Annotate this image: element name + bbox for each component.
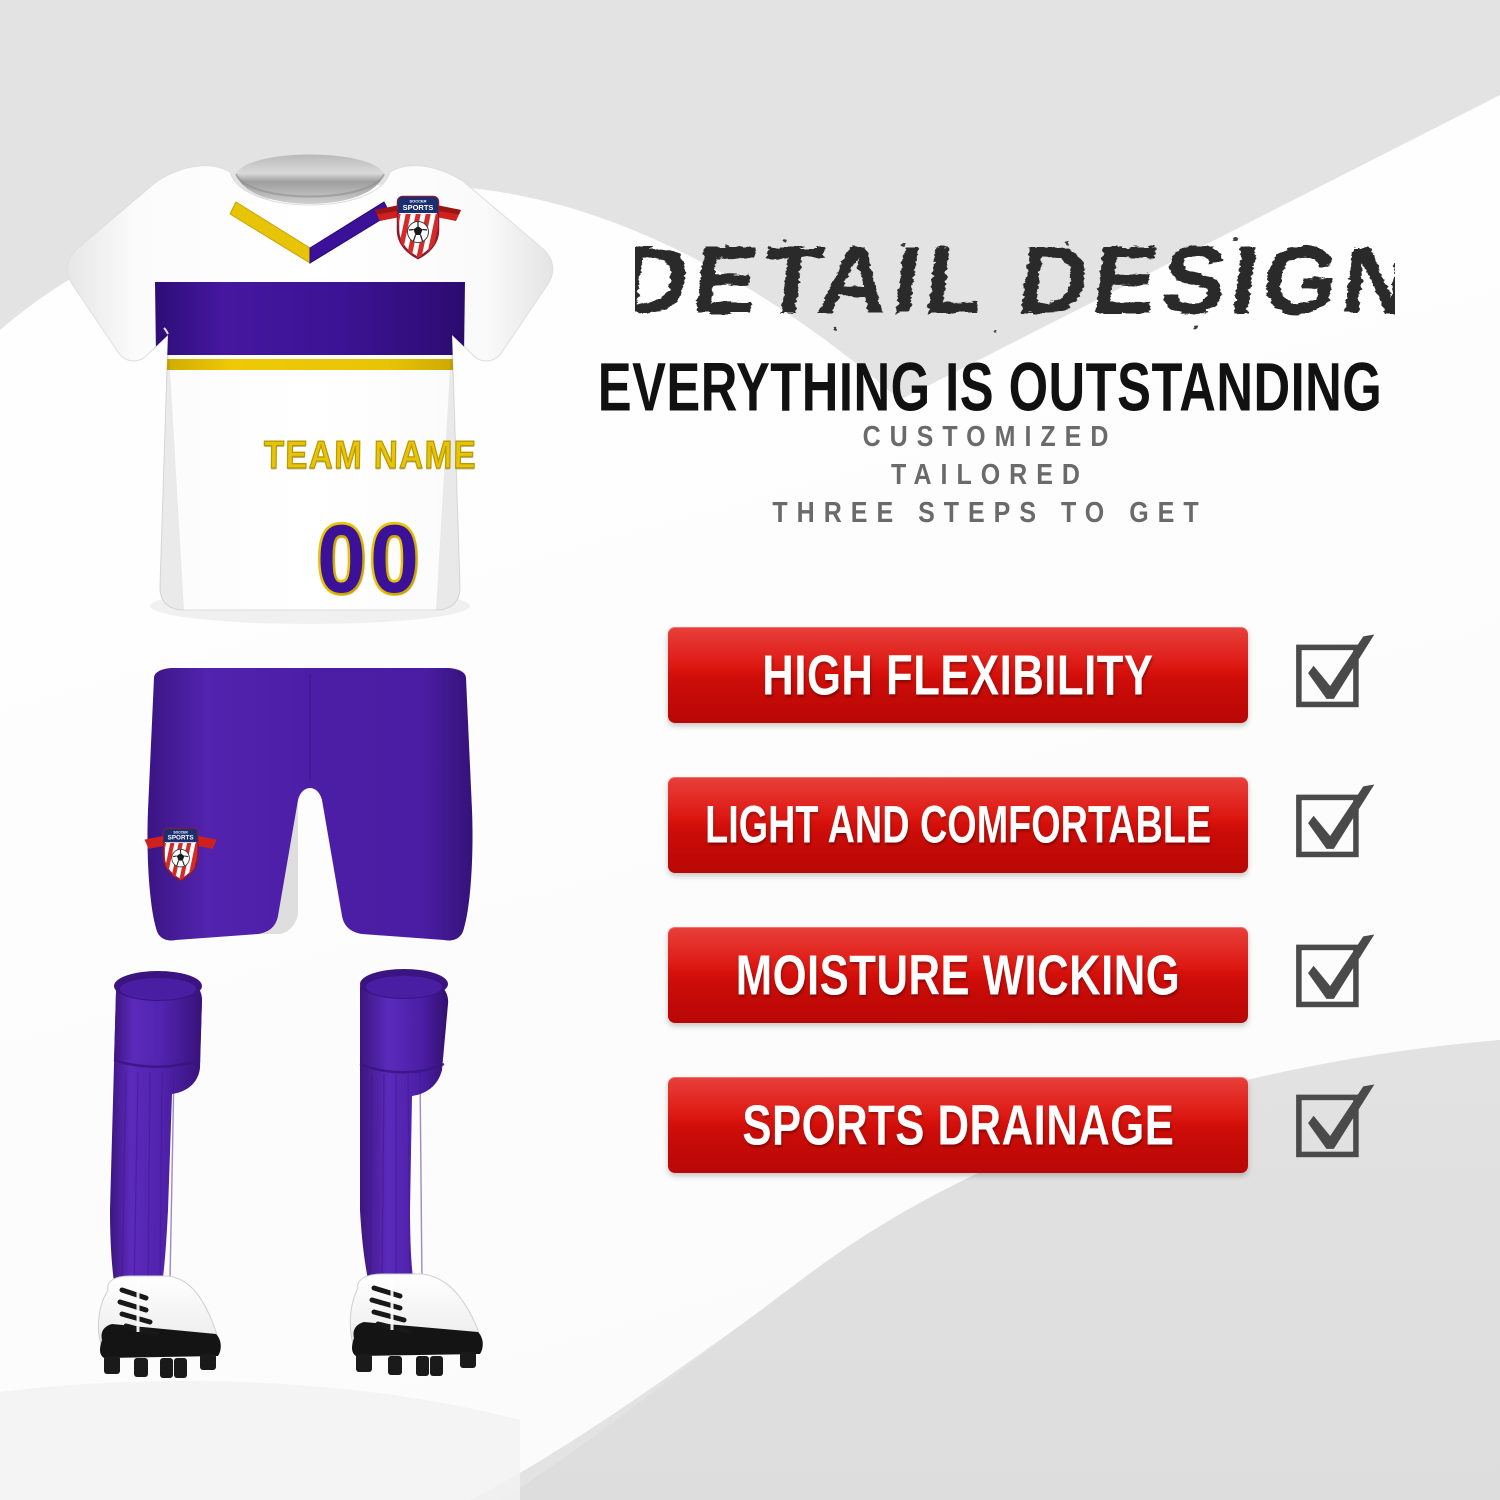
svg-text:SPORTS: SPORTS bbox=[403, 203, 434, 212]
feature-list: HIGH FLEXIBILITY LIGHT AND COMFORTABLE bbox=[540, 600, 1500, 1200]
jersey-team-name: TEAM NAME bbox=[238, 435, 504, 474]
feature-label: SPORTS DRAINAGE bbox=[742, 1092, 1174, 1158]
feature-banner-high-flexibility[interactable]: HIGH FLEXIBILITY bbox=[668, 627, 1248, 723]
feature-row: SPORTS DRAINAGE bbox=[540, 1050, 1500, 1200]
svg-text:DETAIL DESIGN: DETAIL DESIGN bbox=[635, 227, 1395, 334]
feature-banner-light-and-comfortable[interactable]: LIGHT AND COMFORTABLE bbox=[668, 777, 1248, 873]
svg-text:SPORTS: SPORTS bbox=[168, 835, 194, 842]
feature-row: MOISTURE WICKING bbox=[540, 900, 1500, 1050]
marketing-content: DETAIL DESIGN EVERYTHING IS OUTSTANDING … bbox=[540, 0, 1500, 1500]
cleat-left bbox=[98, 1276, 220, 1378]
feature-label: LIGHT AND COMFORTABLE bbox=[705, 795, 1211, 855]
checkmark-icon bbox=[1286, 1079, 1378, 1171]
tagline-3: THREE STEPS TO GET bbox=[540, 491, 1440, 535]
cleat-right bbox=[350, 1274, 483, 1376]
checkmark-icon bbox=[1286, 629, 1378, 721]
feature-banner-sports-drainage[interactable]: SPORTS DRAINAGE bbox=[668, 1077, 1248, 1173]
feature-row: LIGHT AND COMFORTABLE bbox=[540, 750, 1500, 900]
sock-right bbox=[360, 969, 448, 1298]
product-photo: SOCCER SPORTS TEAM NAME 00 bbox=[0, 0, 620, 1500]
feature-label: HIGH FLEXIBILITY bbox=[762, 642, 1153, 708]
shorts-graphic: SOCCER SPORTS 00 bbox=[110, 660, 510, 950]
feature-row: HIGH FLEXIBILITY bbox=[540, 600, 1500, 750]
title-brush-text: DETAIL DESIGN bbox=[635, 225, 1395, 340]
page-title: DETAIL DESIGN bbox=[635, 225, 1395, 340]
tagline-group: CUSTOMIZED TAILORED THREE STEPS TO GET bbox=[540, 418, 1440, 532]
jersey-number: 00 bbox=[265, 511, 475, 608]
feature-label: MOISTURE WICKING bbox=[736, 942, 1181, 1008]
jersey-graphic: SOCCER SPORTS TEAM NAME 00 bbox=[60, 130, 560, 700]
checkmark-icon bbox=[1286, 929, 1378, 1021]
feature-banner-moisture-wicking[interactable]: MOISTURE WICKING bbox=[668, 927, 1248, 1023]
checkmark-icon bbox=[1286, 779, 1378, 871]
sock-left bbox=[110, 971, 202, 1296]
socks-and-cleats-graphic bbox=[60, 960, 560, 1430]
svg-text:SOCCER: SOCCER bbox=[173, 830, 188, 834]
